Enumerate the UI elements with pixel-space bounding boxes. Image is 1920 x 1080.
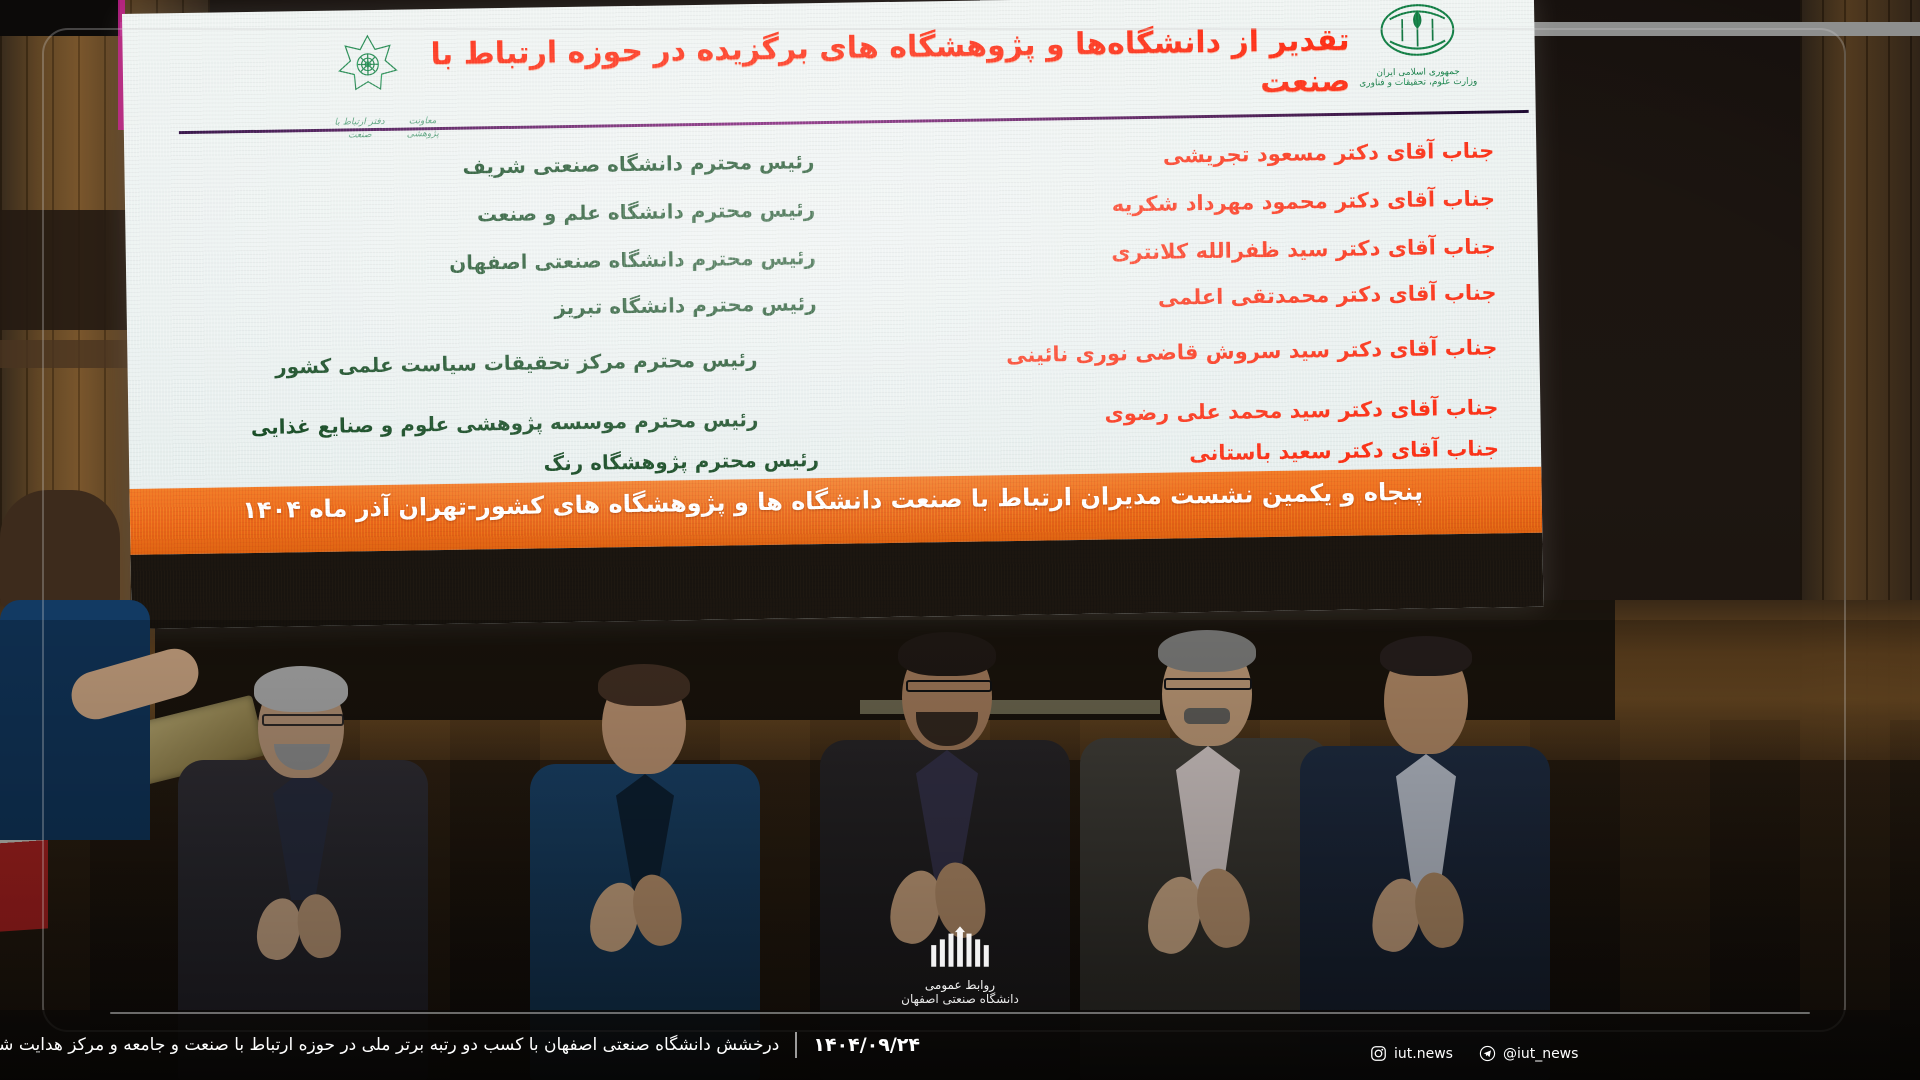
footer-bar: ۱۴۰۴/۰۹/۲۴ درخشش دانشگاه صنعتی اصفهان با… [0,1010,1920,1080]
honoree-name: جناب آقای دکتر محمدتقی اعلمی [856,280,1496,314]
person-3-hair [898,632,996,676]
honoree-role: رئیس محترم مرکز تحقیقات سیاست علمی کشور [197,347,757,381]
slide-title: تقدیر از دانشگاه‌ها و پژوهشگاه های برگزی… [349,21,1350,118]
person-4-glasses [1164,678,1252,690]
honoree-table: جناب آقای دکتر مسعود تجریشی رئیس محترم د… [164,120,1509,481]
honoree-name: جناب آقای دکتر سید محمد علی رضوی [938,394,1498,429]
honoree-role: رئیس محترم دانشگاه صنعتی شریف [194,149,814,183]
iut-logo-line1: روابط عمومی [875,978,1045,992]
person-5-hair [1380,636,1472,676]
person-2-hair [598,664,690,706]
iut-logo-line2: دانشگاه صنعتی اصفهان [875,992,1045,1006]
instagram-icon [1370,1045,1387,1062]
slide-header: تقدیر از دانشگاه‌ها و پژوهشگاه های برگزی… [122,0,1536,134]
honoree-role: رئیس محترم دانشگاه تبریز [197,291,817,325]
honoree-role: رئیس محترم پژوهشگاه رنگ [199,447,819,481]
footer-separator [795,1032,797,1058]
social-handles: iut.news @iut_news [1370,1045,1578,1062]
person-1-hair [254,666,348,712]
honoree-role: رئیس محترم موسسه پژوهشی علوم و صنایع غذا… [198,407,758,441]
iut-pr-logo: روابط عمومی دانشگاه صنعتی اصفهان [875,926,1045,1006]
left-person-torso [0,600,150,840]
person-1-glasses [262,714,344,726]
footer-caption-group: ۱۴۰۴/۰۹/۲۴ درخشش دانشگاه صنعتی اصفهان با… [0,1010,920,1080]
social-instagram[interactable]: iut.news [1370,1045,1453,1062]
honoree-name: جناب آقای دکتر سید سروش قاضی نوری نائینی [937,334,1497,369]
person-4-hair [1158,630,1256,672]
telegram-handle: @iut_news [1503,1046,1578,1062]
emblem-caption-line2: وزارت علوم، تحقیقات و فناوری [1323,76,1513,89]
top-left-dark-edge [0,0,120,36]
instagram-handle: iut.news [1394,1046,1453,1062]
telegram-icon [1479,1045,1496,1062]
projection-screen: تقدیر از دانشگاه‌ها و پژوهشگاه های برگزی… [122,0,1543,629]
honoree-name: جناب آقای دکتر سعید باستانی [859,436,1499,470]
screenshot-root: تقدیر از دانشگاه‌ها و پژوهشگاه های برگزی… [0,0,1920,1080]
iut-monument-icon [924,926,996,970]
honoree-role: رئیس محترم دانشگاه صنعتی اصفهان [196,245,816,279]
ornament-star-icon [332,32,403,95]
honoree-name: جناب آقای دکتر سید ظفرالله کلانتری [856,234,1496,268]
social-telegram[interactable]: @iut_news [1479,1045,1578,1062]
person-3-glasses [906,680,992,692]
honoree-role: رئیس محترم دانشگاه علم و صنعت [195,197,815,231]
footer-date: ۱۴۰۴/۰۹/۲۴ [813,1034,920,1056]
left-person-head [0,490,120,610]
honoree-name: جناب آقای دکتر مسعود تجریشی [854,138,1494,172]
ministry-emblem-right: جمهوری اسلامی ایران وزارت علوم، تحقیقات … [1322,0,1514,111]
iran-emblem-icon [1374,0,1461,62]
person-4-moustache [1184,708,1230,724]
ministry-seal-left: معاونت پژوهشی دفتر ارتباط با صنعت [332,31,444,133]
footer-caption-text: درخشش دانشگاه صنعتی اصفهان با کسب دو رتب… [0,1035,779,1055]
honoree-name: جناب آقای دکتر محمود مهرداد شکریه [855,186,1495,220]
